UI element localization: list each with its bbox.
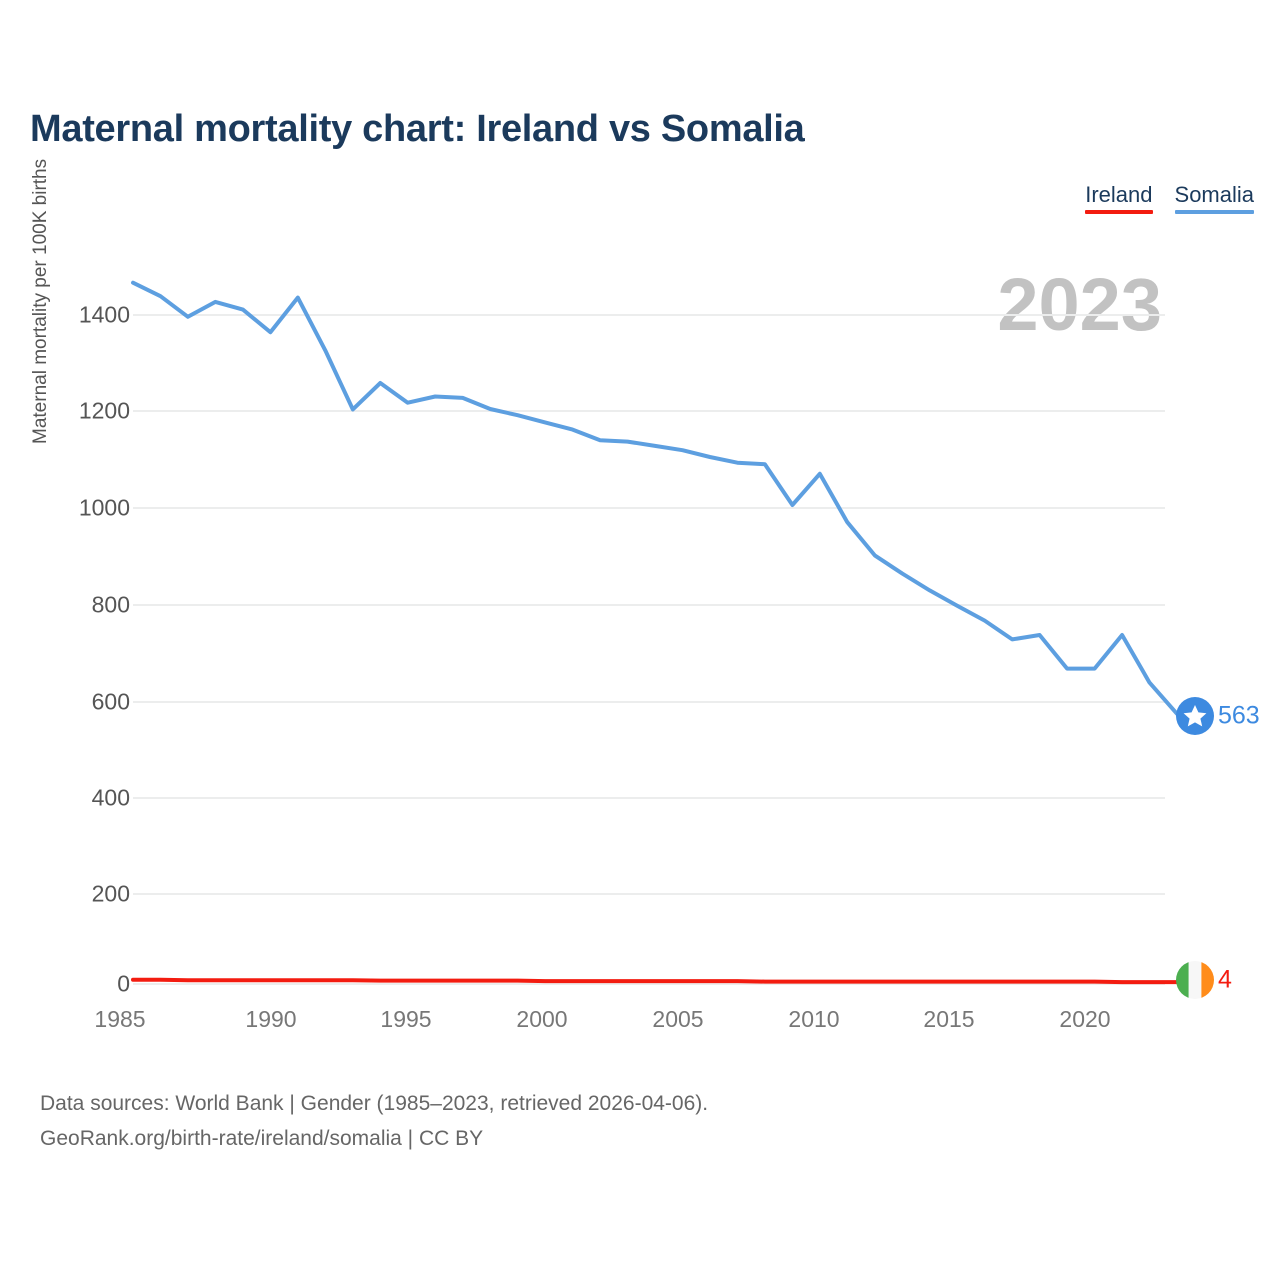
maternal-mortality-chart: Maternal mortality chart: Ireland vs Som… <box>0 0 1280 1280</box>
endpoint-value-ireland: 4 <box>1218 966 1232 995</box>
footer: Data sources: World Bank | Gender (1985–… <box>40 1086 708 1156</box>
footer-attribution: GeoRank.org/birth-rate/ireland/somalia |… <box>40 1121 708 1156</box>
somalia-flag-icon[interactable] <box>1176 697 1214 735</box>
series-line-somalia <box>133 283 1177 714</box>
endpoint-value-somalia: 563 <box>1218 702 1260 731</box>
gridlines <box>133 315 1165 984</box>
ireland-flag-icon[interactable] <box>1176 961 1214 999</box>
series-line-ireland <box>133 980 1177 982</box>
footer-data-sources: Data sources: World Bank | Gender (1985–… <box>40 1086 708 1121</box>
